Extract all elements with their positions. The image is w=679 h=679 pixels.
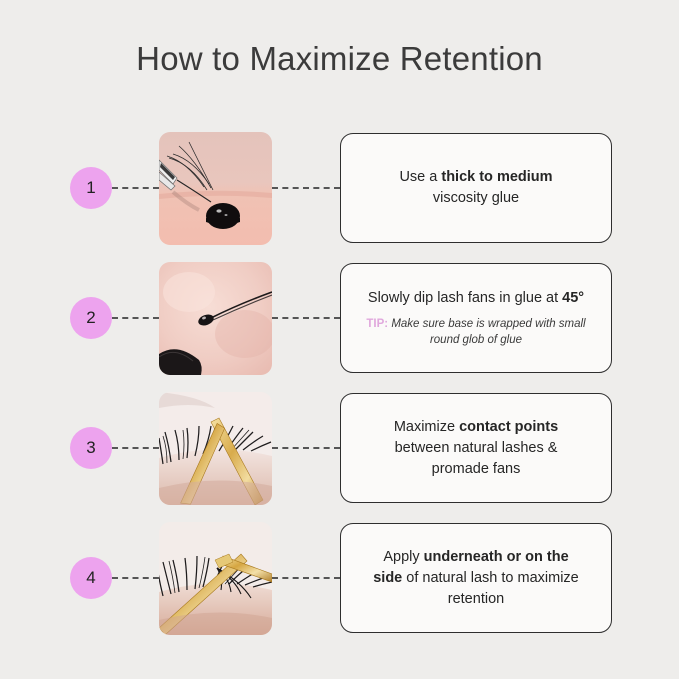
- step-card: Slowly dip lash fans in glue at 45° TIP:…: [340, 263, 612, 373]
- gold-tweezers-isolating-lashes-photo: [159, 392, 272, 505]
- steps-list: 1: [0, 123, 679, 643]
- step-photo: [159, 522, 272, 635]
- gold-tweezers-applying-fan-photo: [159, 522, 272, 635]
- connector-dashed-line-left: [112, 447, 159, 449]
- step-row: 1: [0, 123, 679, 253]
- step-number-badge: 1: [70, 167, 112, 209]
- step-photo: [159, 392, 272, 505]
- step-row: 3: [0, 383, 679, 513]
- step-number-badge: 3: [70, 427, 112, 469]
- step-text: Slowly dip lash fans in glue at 45°: [368, 288, 584, 309]
- step-card: Maximize contact pointsbetween natural l…: [340, 393, 612, 503]
- step-number-badge: 4: [70, 557, 112, 599]
- lash-fan-dipped-in-glue-photo: [159, 262, 272, 375]
- connector-dashed-line-right: [272, 317, 340, 319]
- connector-dashed-line-right: [272, 447, 340, 449]
- step-photo: [159, 262, 272, 375]
- step-row: 2: [0, 253, 679, 383]
- step-photo: [159, 132, 272, 245]
- page-title: How to Maximize Retention: [0, 40, 679, 78]
- connector-dashed-line-left: [112, 317, 159, 319]
- tweezers-lash-fan-glue-drop-photo: [159, 132, 272, 245]
- retention-infographic: How to Maximize Retention 1: [0, 0, 679, 679]
- connector-dashed-line-left: [112, 187, 159, 189]
- step-text: Maximize contact pointsbetween natural l…: [394, 417, 558, 480]
- step-number-badge: 2: [70, 297, 112, 339]
- tip-label: TIP:: [366, 318, 388, 330]
- step-text: Use a thick to mediumviscosity glue: [399, 167, 552, 209]
- connector-dashed-line-right: [272, 577, 340, 579]
- tip-text: Make sure base is wrapped with small rou…: [391, 318, 585, 346]
- step-tip: TIP: Make sure base is wrapped with smal…: [357, 316, 595, 348]
- step-card: Apply underneath or on theside of natura…: [340, 523, 612, 633]
- connector-dashed-line-right: [272, 187, 340, 189]
- connector-dashed-line-left: [112, 577, 159, 579]
- step-row: 4: [0, 513, 679, 643]
- step-card: Use a thick to mediumviscosity glue: [340, 133, 612, 243]
- step-text: Apply underneath or on theside of natura…: [373, 547, 579, 610]
